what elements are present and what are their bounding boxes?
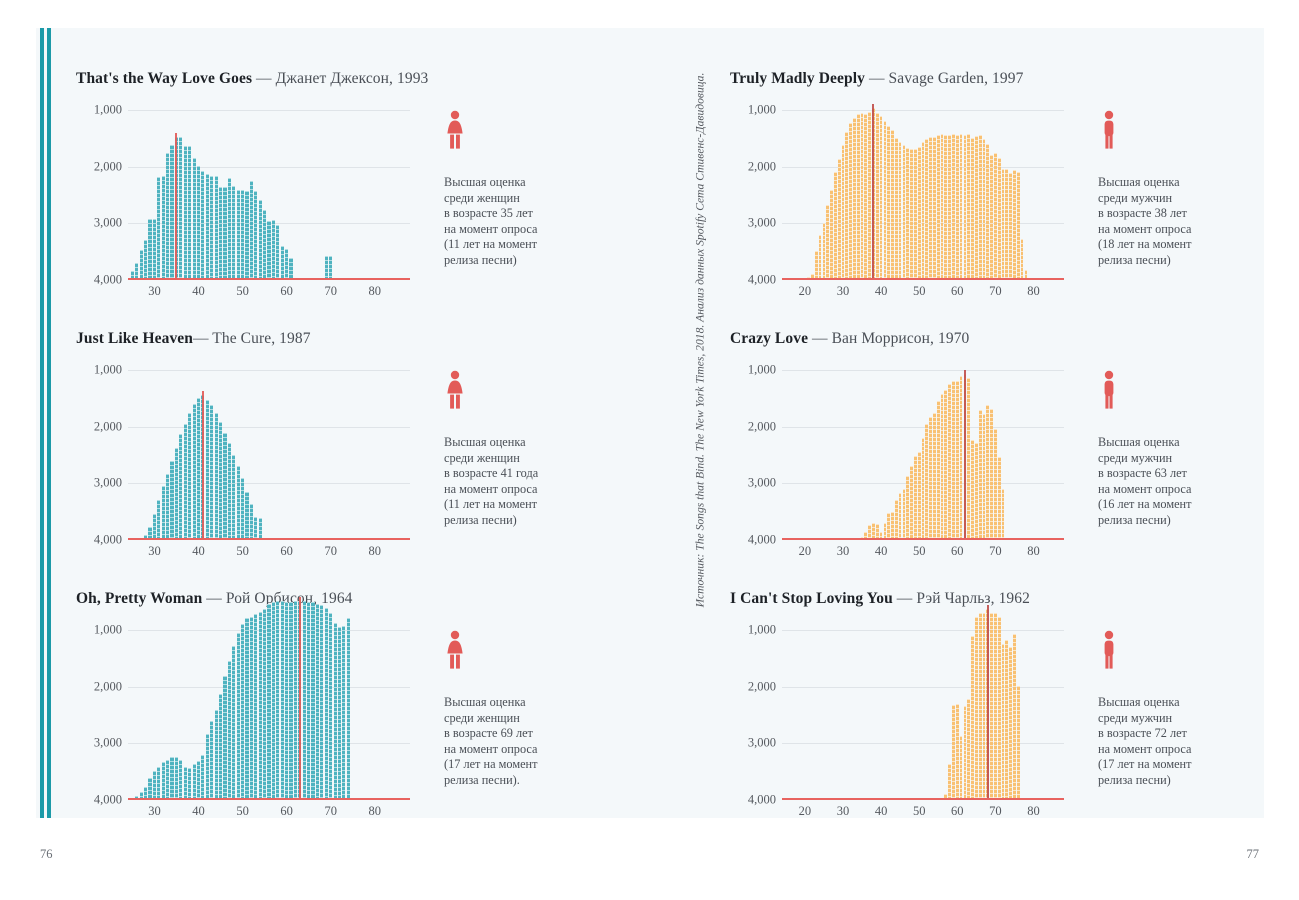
histogram-bar [170,757,173,798]
female-figure-icon [444,110,609,155]
histogram-bar [1002,489,1005,538]
histogram-bar [153,219,156,278]
x-tick-label: 50 [913,804,926,819]
x-tick-label: 70 [324,544,337,559]
histogram-bar [983,139,986,278]
histogram-bar [131,271,134,278]
histogram-bar [952,705,955,798]
histogram-bar [223,187,226,278]
plot-area [128,110,410,280]
histogram-bar [1009,173,1012,278]
histogram-bar [864,532,867,538]
panel-title: I Can't Stop Loving You — Рэй Чарльз, 19… [730,590,1275,608]
histogram-bar [971,138,974,278]
histogram-bar [166,474,169,538]
folio-right: 77 [1247,847,1260,862]
histogram-bar [967,699,970,798]
histogram-bar [210,405,213,538]
histogram-bar [188,413,191,538]
y-axis-labels: 1,0002,0003,0004,000 [730,110,776,280]
x-tick-label: 80 [1027,544,1040,559]
histogram-bar [201,171,204,278]
x-tick-label: 70 [989,804,1002,819]
peak-age-marker [964,370,966,538]
histogram-bar [887,126,890,278]
histogram-bar [1017,686,1020,798]
histogram-bar [162,486,165,538]
histogram-bar [193,158,196,278]
peak-age-marker [987,605,989,798]
histogram-bar [998,457,1001,538]
histogram-bar [188,768,191,798]
x-tick-label: 40 [192,284,205,299]
histogram-bar [944,135,947,278]
x-tick-label: 30 [148,284,161,299]
song-artist-year: — The Cure, 1987 [193,330,311,347]
histogram-bar [144,535,147,538]
plot-area [782,630,1064,800]
histogram-bar [876,113,879,278]
annotation-text: Высшая оценка среди женщин в возрасте 35… [444,175,609,269]
histogram-bar [245,492,248,538]
histogram-bar [241,478,244,538]
histogram-bar [990,409,993,538]
panel-oh-pretty-woman: Oh, Pretty Woman — Рой Орбисон, 19641,00… [76,590,621,842]
histogram-bar [830,190,833,278]
histogram-bar [347,618,350,798]
histogram-bar [906,148,909,278]
histogram-bar [903,489,906,538]
histogram-bar [135,263,138,278]
histogram-bar [983,414,986,538]
histogram-bar [956,135,959,278]
histogram-bar [948,384,951,538]
histogram-bar [166,760,169,798]
histogram-bar [157,177,160,278]
x-tick-label: 60 [951,804,964,819]
y-axis-labels: 1,0002,0003,0004,000 [730,630,776,800]
plot-area [128,370,410,540]
x-axis-labels: 304050607080 [128,804,410,826]
x-axis-labels: 20304050607080 [782,804,1064,826]
histogram-bar [179,434,182,538]
histogram-bar [994,613,997,798]
annotation-text: Высшая оценка среди женщин в возрасте 41… [444,435,609,529]
histogram-bar [263,609,266,798]
histogram-bar [144,787,147,798]
histogram-bar [941,134,944,278]
histogram-bar [986,144,989,278]
histogram-bar [990,155,993,278]
histogram-bar [861,113,864,278]
x-tick-label: 30 [837,804,850,819]
histogram-bar [1013,634,1016,798]
x-axis-labels: 304050607080 [128,284,410,306]
x-tick-label: 60 [280,804,293,819]
y-tick-label: 1,000 [94,103,122,118]
histogram-bar [1021,239,1024,278]
histogram-bar [267,604,270,798]
x-tick-label: 80 [369,284,382,299]
female-figure-icon [444,630,609,675]
histogram-bar [281,601,284,798]
x-tick-label: 70 [324,804,337,819]
x-tick-label: 60 [280,284,293,299]
histogram-bar [891,130,894,278]
histogram-bar [250,181,253,278]
x-tick-label: 70 [989,544,1002,559]
histogram-bar [880,116,883,278]
histogram-bar [289,602,292,798]
x-tick-label: 20 [799,804,812,819]
y-tick-label: 1,000 [748,623,776,638]
histogram-bar [971,636,974,798]
histogram-bar [144,240,147,278]
histogram-bar [933,413,936,538]
x-tick-label: 20 [799,544,812,559]
histogram-bar [276,601,279,798]
histogram-bar [823,223,826,278]
annotation-block: Высшая оценка среди мужчин в возрасте 38… [1098,110,1263,269]
histogram-bar [807,277,810,278]
histogram-bar [148,219,151,278]
histogram-bar [960,736,963,798]
song-artist-year: — Рэй Чарльз, 1962 [893,590,1030,607]
histogram-bar [311,602,314,798]
histogram-bar [263,210,266,278]
plot-area [782,370,1064,540]
histogram-bar [254,191,257,278]
histogram-bar [334,623,337,798]
panel-thats-the-way-love-goes: That's the Way Love Goes — Джанет Джексо… [76,70,621,322]
histogram-bar [842,145,845,278]
x-tick-label: 50 [913,284,926,299]
peak-age-marker [175,133,177,278]
chart-truly-madly-deeply: 1,0002,0003,0004,00020304050607080 [730,110,1080,310]
y-tick-label: 1,000 [748,103,776,118]
histogram-bar [925,139,928,278]
x-tick-label: 30 [837,544,850,559]
histogram-bar [929,137,932,278]
chart-just-like-heaven: 1,0002,0003,0004,000304050607080 [76,370,426,570]
peak-age-marker [872,104,874,278]
y-tick-label: 3,000 [94,736,122,751]
song-title: Truly Madly Deeply [730,70,865,87]
x-tick-label: 80 [1027,284,1040,299]
histogram-bar [986,405,989,538]
x-tick-label: 30 [148,804,161,819]
histogram-bar [1009,647,1012,798]
histogram-bar [241,624,244,798]
histogram-bar [316,604,319,798]
song-artist-year: — Ван Моррисон, 1970 [808,330,969,347]
song-title: That's the Way Love Goes [76,70,252,87]
histogram-bar [964,135,967,278]
panel-title: That's the Way Love Goes — Джанет Джексо… [76,70,621,88]
chart-crazy-love: 1,0002,0003,0004,00020304050607080 [730,370,1080,570]
x-tick-label: 20 [799,284,812,299]
panel-i-cant-stop-loving-you: I Can't Stop Loving You — Рэй Чарльз, 19… [730,590,1275,842]
panels-container: That's the Way Love Goes — Джанет Джексо… [0,0,1299,900]
x-axis-labels: 20304050607080 [782,544,1064,566]
histogram-bar [272,220,275,278]
annotation-block: Высшая оценка среди женщин в возрасте 35… [444,110,609,269]
plot-area [782,110,1064,280]
histogram-bar [979,135,982,278]
y-tick-label: 2,000 [94,419,122,434]
histogram-bar [188,146,191,278]
histogram-bar [254,614,257,798]
histogram-bar [895,500,898,538]
histogram-bar [184,767,187,798]
histogram-bar [872,523,875,538]
x-tick-label: 30 [837,284,850,299]
histogram-bar [868,112,871,278]
histogram-bar [895,138,898,278]
baseline-axis [128,798,410,800]
y-tick-label: 3,000 [94,476,122,491]
histogram-bar [1025,270,1028,278]
chart-i-cant-stop-loving-you: 1,0002,0003,0004,00020304050607080 [730,630,1080,830]
panel-title: Crazy Love — Ван Моррисон, 1970 [730,330,1275,348]
histogram-bar [975,443,978,538]
histogram-bar [135,796,138,798]
panel-title: Just Like Heaven— The Cure, 1987 [76,330,621,348]
chart-oh-pretty-woman: 1,0002,0003,0004,000304050607080 [76,630,426,830]
histogram-bar [210,721,213,798]
histogram-bar [193,764,196,798]
female-figure-icon [444,370,609,415]
source-note-text: Источник: The Songs that Bind. The New Y… [694,73,707,608]
histogram-bar [219,187,222,278]
histogram-bar [232,186,235,278]
histogram-bar [254,517,257,538]
histogram-bar [838,159,841,278]
x-tick-label: 40 [875,544,888,559]
histogram-bar [826,205,829,278]
histogram-bar [880,532,883,538]
histogram-bar [281,246,284,278]
x-tick-label: 60 [951,544,964,559]
y-tick-label: 2,000 [94,159,122,174]
histogram-bar [1005,169,1008,278]
peak-age-marker [299,597,301,798]
histogram-bar [1005,640,1008,798]
histogram-bar [237,190,240,278]
histogram-bar [148,778,151,798]
histogram-bar [967,378,970,538]
histogram-bar [215,413,218,538]
histogram-bar [166,153,169,278]
histogram-bar [219,694,222,798]
annotation-block: Высшая оценка среди мужчин в возрасте 72… [1098,630,1263,789]
folio-left: 76 [40,847,53,862]
histogram-bar [153,514,156,538]
histogram-bar [971,440,974,538]
histogram-bar [289,258,292,278]
histogram-bar [922,438,925,538]
histogram-bar [964,706,967,798]
histogram-bar [975,136,978,278]
histogram-bar [259,200,262,278]
histogram-bar [285,249,288,278]
histogram-bar [228,443,231,538]
histogram-bar [952,381,955,538]
y-tick-label: 2,000 [748,159,776,174]
y-tick-label: 3,000 [748,736,776,751]
histogram-bar [325,256,328,278]
y-tick-label: 4,000 [748,273,776,288]
histogram-bar [937,401,940,538]
histogram-bar [903,145,906,278]
histogram-bar [849,123,852,278]
baseline-axis [128,278,410,280]
histogram-bar [285,602,288,798]
male-figure-icon [1098,630,1263,675]
histogram-bar [245,191,248,278]
histogram-bar [1002,644,1005,798]
histogram-bar [914,456,917,538]
histogram-bar [918,452,921,538]
x-tick-label: 40 [192,804,205,819]
histogram-bar [983,613,986,798]
histogram-bar [162,176,165,278]
histogram-bar [1002,169,1005,278]
histogram-bar [140,250,143,278]
histogram-bar [303,601,306,798]
histogram-bar [162,762,165,798]
histogram-bar [967,134,970,278]
histogram-bar [237,466,240,538]
book-spread-page: That's the Way Love Goes — Джанет Джексо… [0,0,1299,900]
y-axis-labels: 1,0002,0003,0004,000 [76,630,122,800]
peak-age-marker [202,391,204,538]
baseline-axis [782,278,1064,280]
histogram-bar [925,424,928,538]
song-title: Just Like Heaven [76,330,193,347]
histogram-bar [140,792,143,798]
histogram-bar [994,153,997,278]
histogram-bar [864,114,867,278]
histogram-bar [861,537,864,538]
histogram-bar [157,500,160,538]
male-figure-icon [1098,110,1263,155]
histogram-bar [933,137,936,278]
histogram-bar [232,646,235,798]
song-artist-year: — Savage Garden, 1997 [865,70,1023,87]
histogram-bar [219,422,222,538]
histogram-bar [307,602,310,798]
annotation-text: Высшая оценка среди мужчин в возрасте 72… [1098,695,1263,789]
histogram-bar [910,466,913,538]
histogram-bar [175,757,178,798]
annotation-text: Высшая оценка среди мужчин в возрасте 38… [1098,175,1263,269]
histogram-bar [338,627,341,798]
y-axis-labels: 1,0002,0003,0004,000 [76,110,122,280]
histogram-bar [153,771,156,798]
x-tick-label: 60 [280,544,293,559]
histogram-bar [223,676,226,798]
histogram-bar [815,251,818,278]
histogram-bar [819,235,822,278]
histogram-bar [259,518,262,538]
histogram-bar [215,176,218,278]
histogram-bar [899,493,902,538]
histogram-bar [918,147,921,278]
source-note: Источник: The Songs that Bind. The New Y… [690,120,710,560]
histogram-bar [941,394,944,538]
histogram-bar [276,225,279,278]
bars-group [782,370,1064,538]
x-tick-label: 70 [324,284,337,299]
y-axis-labels: 1,0002,0003,0004,000 [76,370,122,540]
histogram-bar [232,455,235,538]
histogram-bar [184,146,187,278]
baseline-axis [128,538,410,540]
histogram-bar [857,114,860,278]
histogram-bar [891,512,894,538]
bars-group [128,630,410,798]
x-axis-labels: 20304050607080 [782,284,1064,306]
histogram-bar [994,429,997,538]
histogram-bar [210,176,213,278]
y-tick-label: 4,000 [748,533,776,548]
bars-group [782,110,1064,278]
x-tick-label: 30 [148,544,161,559]
histogram-bar [998,158,1001,278]
x-tick-label: 70 [989,284,1002,299]
histogram-bar [170,145,173,278]
panel-title: Truly Madly Deeply — Savage Garden, 1997 [730,70,1275,88]
y-tick-label: 2,000 [748,419,776,434]
x-axis-labels: 304050607080 [128,544,410,566]
histogram-bar [197,398,200,538]
histogram-bar [228,178,231,278]
histogram-bar [197,166,200,278]
histogram-bar [320,605,323,798]
histogram-bar [228,661,231,798]
song-title: I Can't Stop Loving You [730,590,893,607]
annotation-block: Высшая оценка среди женщин в возрасте 69… [444,630,609,789]
x-tick-label: 50 [236,284,249,299]
y-tick-label: 3,000 [748,476,776,491]
baseline-axis [782,538,1064,540]
histogram-bar [250,617,253,798]
x-tick-label: 40 [192,544,205,559]
panel-truly-madly-deeply: Truly Madly Deeply — Savage Garden, 1997… [730,70,1275,322]
y-tick-label: 2,000 [94,679,122,694]
histogram-bar [887,513,890,538]
male-figure-icon [1098,370,1263,415]
histogram-bar [215,710,218,798]
histogram-bar [884,121,887,278]
histogram-bar [956,381,959,538]
histogram-bar [206,400,209,538]
histogram-bar [245,618,248,798]
y-tick-label: 3,000 [94,216,122,231]
histogram-bar [975,617,978,798]
x-tick-label: 50 [236,544,249,559]
histogram-bar [952,134,955,278]
song-title: Oh, Pretty Woman [76,590,202,607]
y-tick-label: 4,000 [94,793,122,808]
histogram-bar [998,617,1001,798]
histogram-bar [868,525,871,538]
chart-thats-the-way-love-goes: 1,0002,0003,0004,000304050607080 [76,110,426,310]
histogram-bar [948,764,951,798]
y-tick-label: 1,000 [94,623,122,638]
plot-area [128,630,410,800]
